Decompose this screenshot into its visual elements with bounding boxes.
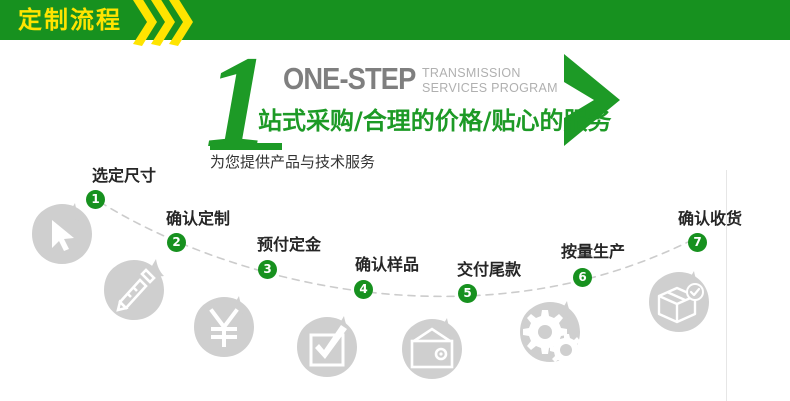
hero-headline: ONE-STEP	[283, 62, 415, 96]
vertical-rule	[726, 170, 727, 401]
step-label-7: 确认收货	[678, 209, 742, 229]
banner-chevron-group	[131, 0, 211, 46]
pencil-ruler-icon	[100, 258, 168, 326]
process-flow: 选定尺寸 1 确认定制 2 预付定金 3 确认样品 4 交付尾款 5 按量生产 …	[0, 160, 790, 401]
step-label-6: 按量生产	[561, 242, 625, 262]
hero-numeral-underline	[210, 143, 282, 150]
yuan-currency-icon	[190, 295, 258, 363]
page-title: 定制流程	[18, 6, 122, 34]
step-badge-7[interactable]: 7	[688, 233, 707, 252]
wallet-icon	[398, 317, 466, 385]
hero-subheadline-line1: TRANSMISSION	[422, 66, 558, 81]
step-label-2: 确认定制	[166, 209, 230, 229]
customization-flow-infographic: 定制流程 1 ONE-STEP TRANSMISSION SERVICES PR…	[0, 0, 790, 401]
step-badge-6[interactable]: 6	[573, 268, 592, 287]
cursor-pointer-icon	[28, 202, 96, 270]
step-badge-3[interactable]: 3	[258, 260, 277, 279]
hero-slogan: 站式采购/合理的价格/贴心的服务	[258, 107, 612, 135]
chevron-right-icon	[167, 0, 193, 46]
step-badge-5[interactable]: 5	[458, 284, 477, 303]
hero-subheadline-line2: SERVICES PROGRAM	[422, 81, 558, 96]
step-badge-4[interactable]: 4	[354, 280, 373, 299]
checkbox-check-icon	[293, 315, 361, 383]
step-label-1: 选定尺寸	[92, 166, 156, 186]
gears-icon	[516, 300, 584, 368]
package-check-icon	[645, 270, 713, 338]
section-header-banner: 定制流程	[0, 0, 790, 40]
step-label-3: 预付定金	[257, 235, 321, 255]
hero-subheadline-en: TRANSMISSION SERVICES PROGRAM	[422, 66, 558, 96]
step-badge-2[interactable]: 2	[167, 233, 186, 252]
step-label-5: 交付尾款	[457, 260, 521, 280]
step-label-4: 确认样品	[355, 255, 419, 275]
step-badge-1[interactable]: 1	[86, 190, 105, 209]
